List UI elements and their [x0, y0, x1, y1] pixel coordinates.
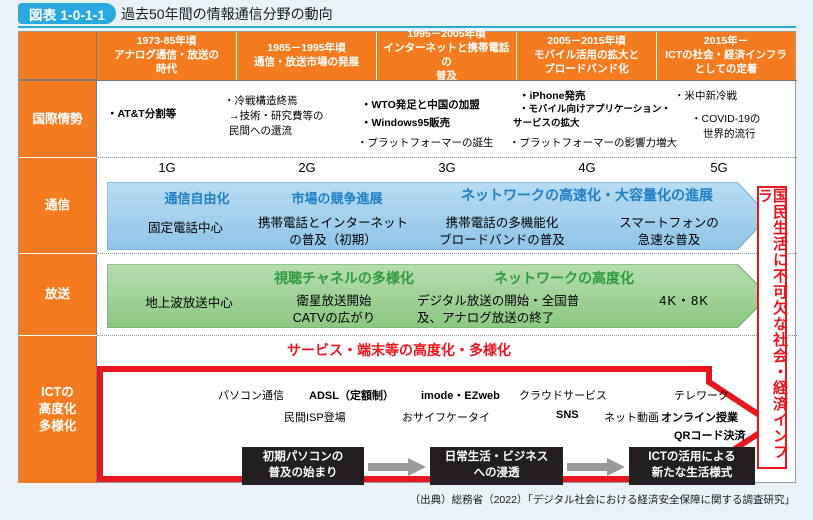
- ict-term-sns: SNS: [556, 409, 579, 421]
- vertical-red-banner: 国民生活に不可欠な社会・経済インフラ: [757, 186, 787, 469]
- process-line: 新たな生活様式: [648, 466, 735, 482]
- header-line: 普及: [379, 70, 514, 84]
- telecom-headline-liberalization: 通信自由化: [137, 188, 257, 207]
- process-line: 普及の始まり: [263, 466, 344, 482]
- source-note: （出典）総務省（2022）「デジタル社会における経済安全保障に関する調査研究」: [410, 492, 795, 507]
- header-line: 2005－2015年頃: [534, 35, 639, 49]
- broadcast-sub-terrestrial: 地上波放送中心: [119, 292, 259, 311]
- generation-1g: 1G: [97, 160, 237, 175]
- column-header-c5: 2015年－ ICTの社会・経済インフラ としての定着: [657, 32, 795, 80]
- ict-term-adsl: ADSL（定額制）: [309, 387, 394, 403]
- row-separator-telecom: [97, 253, 797, 254]
- header-line: 1985－1995年頃: [254, 42, 359, 56]
- process-box-2: 日常生活・ビジネス への浸透: [430, 447, 563, 485]
- telecom-sub-spread: の普及（初期）: [247, 229, 419, 248]
- intl-item-platform2: ・プラットフォーマーの影響力増大: [509, 136, 677, 150]
- broadcast-sub-digital2: 及、アナログ放送の終了: [417, 307, 647, 326]
- header-line: 1973-85年頃: [114, 35, 219, 49]
- process-line: 初期パソコンの: [263, 450, 344, 466]
- process-line: への浸透: [445, 466, 549, 482]
- generation-3g: 3G: [377, 160, 517, 175]
- intl-item-coldwar: ・冷戦構造終焉: [224, 94, 298, 108]
- header-line: ブロードバンド化: [534, 63, 639, 77]
- broadcast-sub-4k8k: 4K・8K: [629, 290, 739, 309]
- process-box-1: 初期パソコンの 普及の始まり: [242, 447, 364, 485]
- telecom-sub-broadband: ブロードバンドの普及: [417, 229, 587, 248]
- broadcast-headline-channels: 視聴チャネルの多様化: [229, 268, 459, 288]
- generation-2g: 2G: [237, 160, 377, 175]
- row-separator-broadcast: [97, 335, 797, 336]
- row-label-ict: ICTの 高度化 多様化: [19, 336, 97, 483]
- figure-number-badge: 図表 1-0-1-1: [18, 3, 116, 24]
- row-label-telecom: 通信: [19, 158, 97, 253]
- header-line: 1995－2005年頃: [379, 28, 514, 42]
- timeline-table: 1973-85年頃 アナログ通信・放送の 時代 1985－1995年頃 通信・放…: [18, 31, 796, 483]
- column-header-c2: 1985－1995年頃 通信・放送市場の発展: [237, 32, 377, 80]
- header-line: 2015年－: [665, 35, 787, 49]
- page-title: 過去50年間の情報通信分野の動向: [121, 3, 333, 24]
- telecom-sub-fixedphone: 固定電話中心: [123, 217, 248, 236]
- intl-item-private: 民間への還流: [229, 124, 292, 138]
- header-line: アナログ通信・放送の: [114, 49, 219, 63]
- row-separator-intl: [97, 157, 797, 158]
- column-header-c3: 1995－2005年頃 インターネットと携帯電話の 普及: [377, 32, 517, 80]
- header-line: としての定着: [665, 63, 787, 77]
- row-label-line: ICTの: [39, 384, 77, 401]
- ict-term-isp: 民間ISP登場: [284, 409, 346, 425]
- telecom-sub-rapid: 急速な普及: [589, 229, 749, 248]
- column-header-c1: 1973-85年頃 アナログ通信・放送の 時代: [97, 32, 237, 80]
- generation-4g: 4G: [517, 160, 657, 175]
- intl-item-iphone: ・iPhone発売: [519, 89, 586, 103]
- ict-term-telework: テレワーク: [674, 387, 729, 403]
- process-arrow-2: [567, 458, 625, 481]
- telecom-headline-network: ネットワークの高速化・大容量化の進展: [417, 185, 757, 205]
- intl-item-wto: ・WTO発足と中国の加盟: [361, 98, 480, 112]
- intl-item-uschina: ・米中新冷戦: [674, 89, 737, 103]
- header-line: 通信・放送市場の発展: [254, 56, 359, 70]
- broadcast-sub-catv: CATVの広がり: [249, 307, 419, 326]
- ict-term-pc-tsushin: パソコン通信: [218, 387, 284, 403]
- row-label-line: 多様化: [39, 418, 77, 435]
- row-label-broadcast: 放送: [19, 254, 97, 335]
- intl-item-platform1: ・プラットフォーマーの誕生: [357, 136, 494, 150]
- intl-item-covid2: 世界的流行: [703, 127, 756, 141]
- vertical-banner-text: 国民生活に不可欠な社会・経済インフラ: [757, 188, 787, 467]
- header-line: 時代: [114, 63, 219, 77]
- header-line: ICTの社会・経済インフラ: [665, 49, 787, 63]
- intl-item-mobileapp: ・モバイル向けアプリケーション・: [519, 104, 671, 117]
- telecom-headline-competition: 市場の競争進展: [257, 188, 417, 207]
- intl-item-win95: ・Windows95販売: [361, 116, 450, 130]
- broadcast-headline-network: ネットワークの高度化: [449, 268, 679, 288]
- header-line: モバイル活用の拡大と: [534, 49, 639, 63]
- process-arrow-1: [368, 458, 426, 481]
- process-line: ICTの活用による: [648, 450, 735, 466]
- ict-term-onlineclass: オンライン授業: [661, 409, 738, 425]
- ict-term-netvideo: ネット動画: [604, 409, 659, 425]
- title-bar: 図表 1-0-1-1 過去50年間の情報通信分野の動向: [0, 0, 813, 27]
- ict-term-cloud: クラウドサービス: [519, 387, 607, 403]
- ict-red-headline: サービス・端末等の高度化・多様化: [287, 340, 511, 360]
- header-line: インターネットと携帯電話の: [379, 42, 514, 70]
- intl-item-covid: ・COVID-19の: [691, 112, 760, 126]
- ict-term-qrpay: QRコード決済: [674, 427, 746, 443]
- ict-term-osaifu: おサイフケータイ: [402, 409, 490, 425]
- generation-5g: 5G: [649, 160, 789, 175]
- intl-item-servicegrow: サービスの拡大: [513, 118, 580, 131]
- row-label-international: 国際情勢: [19, 81, 97, 157]
- process-line: 日常生活・ビジネス: [445, 450, 549, 466]
- column-header-c4: 2005－2015年頃 モバイル活用の拡大と ブロードバンド化: [517, 32, 657, 80]
- intl-item-att: ・AT&T分割等: [107, 107, 176, 121]
- intl-item-tech: →技術・研究費等の: [229, 109, 324, 123]
- process-box-3: ICTの活用による 新たな生活様式: [629, 447, 755, 485]
- table-corner-cell: [19, 32, 97, 80]
- header-separator: [19, 80, 797, 81]
- ict-term-imode: imode・EZweb: [421, 387, 500, 403]
- row-label-line: 高度化: [39, 401, 77, 418]
